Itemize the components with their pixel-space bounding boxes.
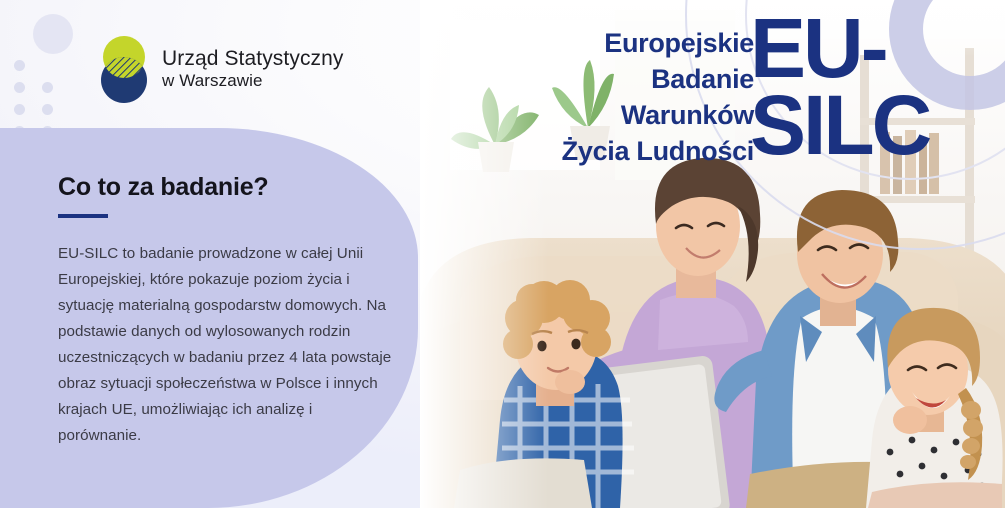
- decorative-circle: [33, 14, 73, 54]
- headline-line-3: Warunków: [516, 98, 754, 134]
- headline-line-2: Badanie: [516, 62, 754, 98]
- acronym-line-1: EU-: [750, 10, 1000, 87]
- logo-line-2: w Warszawie: [162, 71, 344, 91]
- acronym-eu-silc: EU- SILC: [750, 10, 1000, 165]
- poster-root: Urząd Statystyczny w Warszawie Europejsk…: [0, 0, 1005, 508]
- decorative-dot-grid: [14, 60, 74, 136]
- panel-title-rule: [58, 214, 108, 218]
- info-panel: Co to za badanie? EU-SILC to badanie pro…: [0, 128, 418, 508]
- panel-body-text: EU-SILC to badanie prowadzone w całej Un…: [58, 241, 398, 450]
- logo-mark-icon: [98, 33, 150, 105]
- panel-title: Co to za badanie?: [58, 174, 398, 202]
- acronym-line-2: SILC: [750, 87, 1000, 164]
- logo-wordmark: Urząd Statystyczny w Warszawie: [162, 47, 344, 92]
- headline-line-4: Życia Ludności: [516, 134, 754, 170]
- organization-logo: Urząd Statystyczny w Warszawie: [98, 33, 344, 105]
- logo-line-1: Urząd Statystyczny: [162, 47, 344, 72]
- headline-line-1: Europejskie: [516, 26, 754, 62]
- headline: Europejskie Badanie Warunków Życia Ludno…: [516, 26, 754, 170]
- info-panel-content: Co to za badanie? EU-SILC to badanie pro…: [58, 174, 398, 450]
